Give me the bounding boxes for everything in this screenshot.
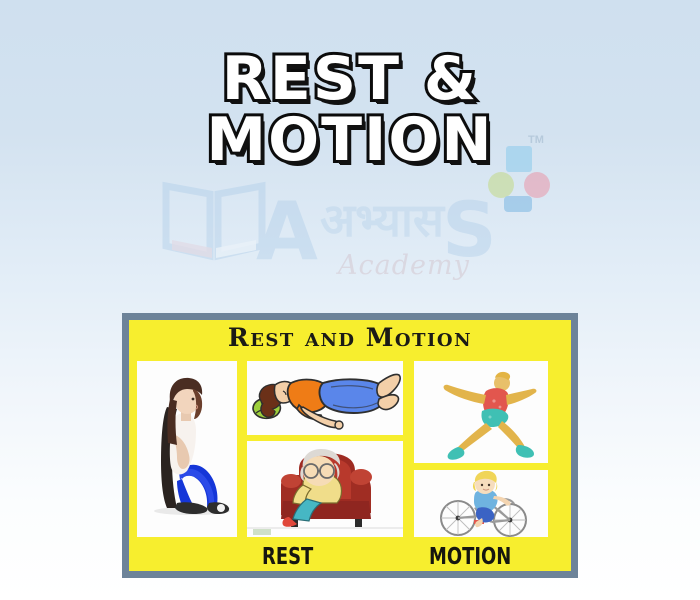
page-title: REST & MOTION — [0, 52, 700, 168]
watermark-academy-script: Academy — [338, 250, 470, 281]
open-book-icon — [160, 178, 268, 264]
watermark-hindi-text: अभ्यास — [320, 194, 444, 246]
pink-circle-icon — [524, 172, 550, 198]
tile-person-lying-down-sleeping — [247, 361, 403, 435]
blue-square-icon — [506, 146, 532, 172]
poster-page: REST & MOTION A अभ्यास S Academy TM Rest… — [0, 0, 700, 600]
watermark-logo: A अभ्यास S Academy — [152, 168, 552, 288]
tile-girl-sitting-on-floor — [137, 361, 237, 537]
tile-elderly-person-in-armchair — [247, 441, 403, 537]
green-circle-icon — [488, 172, 514, 198]
caption-motion: MOTION — [429, 544, 511, 570]
trademark-symbol: TM — [528, 134, 544, 146]
blue-bar-icon — [504, 196, 532, 212]
brand-mark: TM — [488, 134, 560, 212]
watermark-letter-a: A — [256, 192, 316, 272]
tile-boy-riding-bicycle — [414, 470, 548, 537]
caption-rest: REST — [262, 544, 313, 570]
page-title-line-2: MOTION — [0, 113, 700, 168]
watermark-letter-s: S — [442, 190, 497, 270]
page-title-line-1: REST & — [0, 52, 700, 107]
poster-heading: Rest and Motion — [129, 323, 571, 352]
poster-inner: Rest and Motion — [129, 320, 571, 571]
rest-and-motion-poster: Rest and Motion — [122, 313, 578, 578]
tile-man-running — [414, 361, 548, 463]
